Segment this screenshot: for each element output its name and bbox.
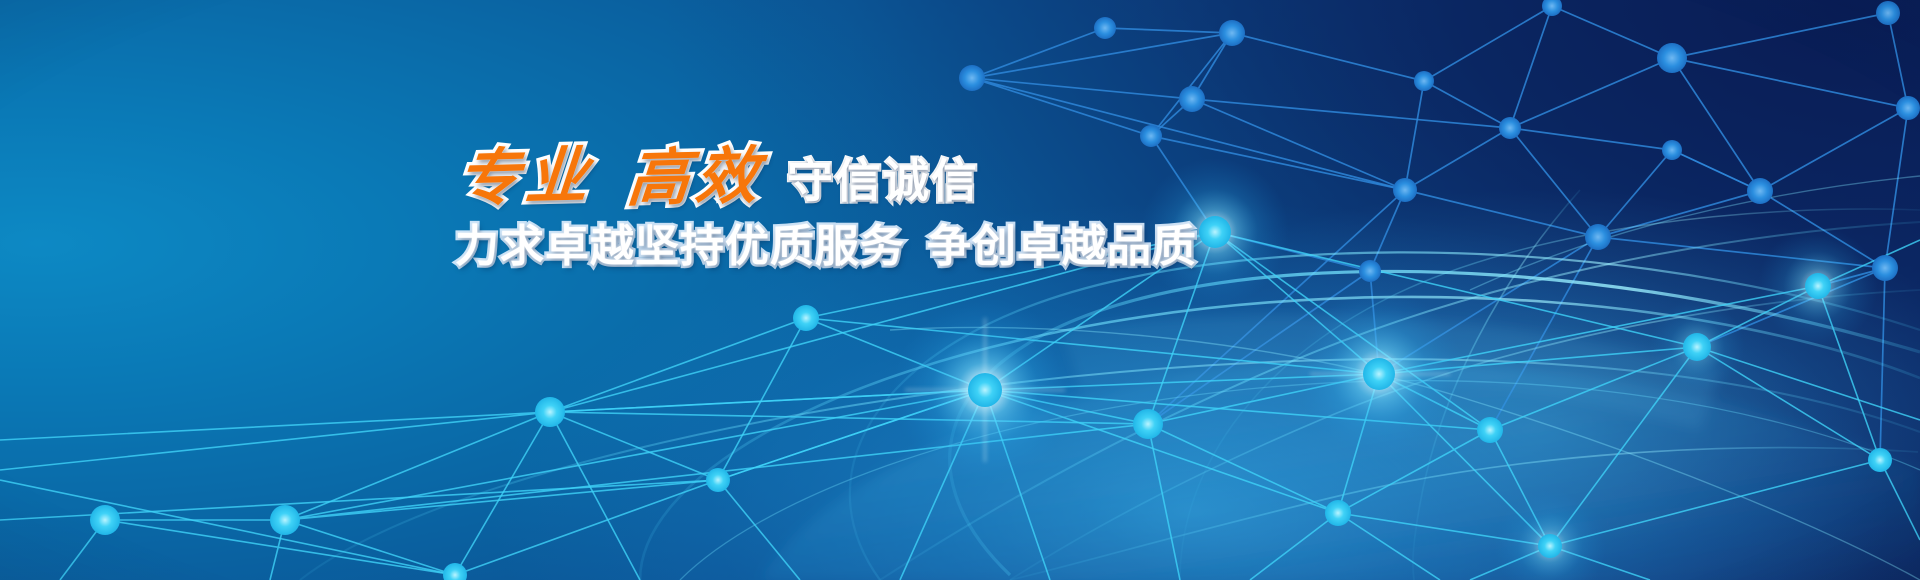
background-glow-gradient [0,0,1920,580]
network-mesh-graphic [0,0,1920,580]
background-navy-gradient [0,0,1920,580]
globe-body-tint [760,314,1920,580]
headline-brush-word-1: 专业 [455,145,596,210]
banner-text-block: 专业 高效 守信诚信 力求卓越坚持优质服务争创卓越品质 [455,128,1155,271]
promo-banner: 专业 高效 守信诚信 力求卓越坚持优质服务争创卓越品质 [0,0,1920,580]
mesh-lines-lower [0,232,1920,580]
background-base-gradient [0,0,1920,580]
banner-subline: 力求卓越坚持优质服务争创卓越品质 [455,224,1155,271]
subline-part-1: 力求卓越坚持优质服务 [455,221,905,272]
headline-brush-word-2: 高效 [625,145,766,210]
background-vignette [0,0,1920,580]
headline-plain-word: 守信诚信 [787,158,979,204]
subline-part-2: 争创卓越品质 [927,221,1197,272]
banner-headline: 专业 高效 守信诚信 [455,128,1155,210]
